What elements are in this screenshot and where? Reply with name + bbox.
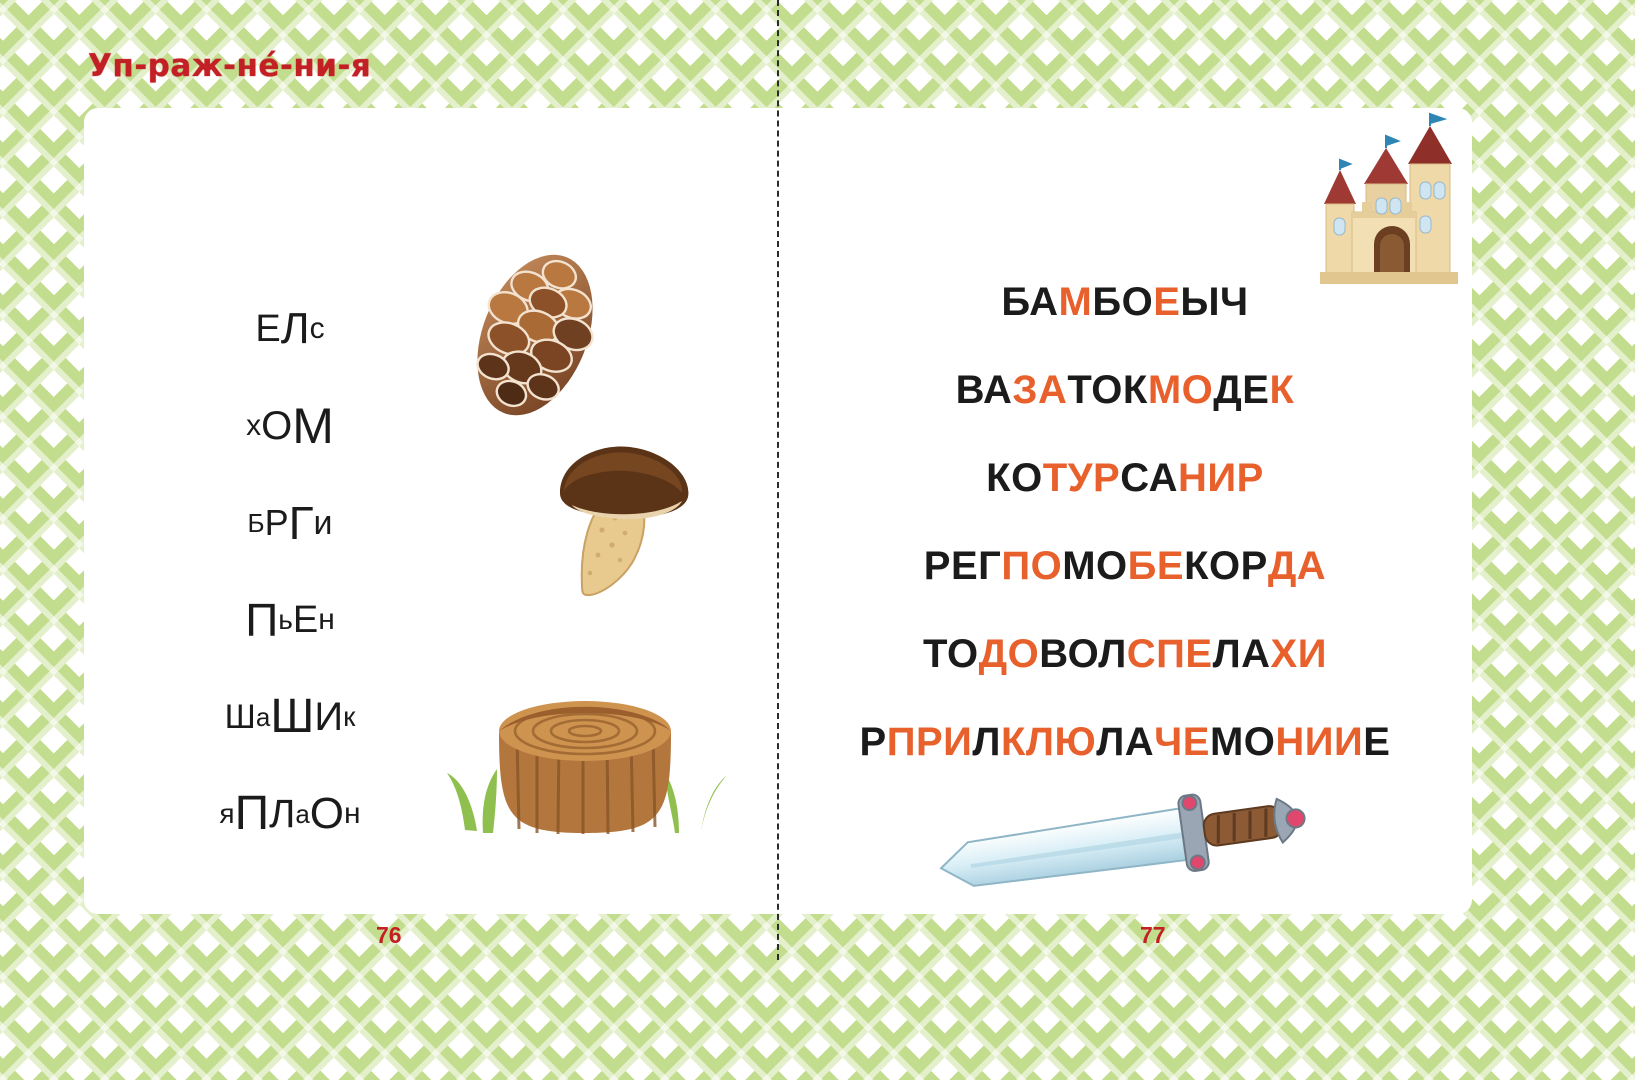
ladder-letter: Е <box>293 601 318 639</box>
tree-stump-illustration <box>425 665 745 850</box>
filler-segment: ДЕ <box>1213 368 1269 413</box>
mushroom-illustration <box>520 435 710 620</box>
hidden-word-segment: ЗА <box>1012 368 1067 413</box>
word-search-row: КОТУРСАНИР <box>800 434 1450 522</box>
ladder-letter: Е <box>255 310 280 348</box>
filler-segment: ЛА <box>1096 720 1154 765</box>
ladder-letter: и <box>314 506 333 540</box>
hidden-word-segment: ПРИ <box>887 720 973 765</box>
castle-illustration <box>1290 112 1485 347</box>
page-number-right: 77 <box>1140 922 1166 949</box>
filler-segment: ВОЛ <box>1039 632 1127 677</box>
word-search-row: РЕГПОМОБЕКОРДА <box>800 522 1450 610</box>
ladder-row: БРГи <box>150 474 430 571</box>
ladder-letter: И <box>314 697 343 737</box>
ladder-letter: а <box>256 704 270 730</box>
filler-segment: СА <box>1120 456 1178 501</box>
ladder-row: хОМ <box>150 377 430 474</box>
page-number-left: 76 <box>376 922 402 949</box>
hidden-word-segment: ТУР <box>1043 456 1121 501</box>
ladder-letter: О <box>261 406 292 446</box>
hidden-word-segment: КЛЮ <box>1001 720 1096 765</box>
filler-segment: Л <box>972 720 1001 765</box>
filler-segment: ТОК <box>1067 368 1147 413</box>
center-fold-line <box>777 0 779 960</box>
ladder-letter: ь <box>278 606 293 634</box>
ladder-row: яПЛаОн <box>150 765 430 862</box>
ladder-letter: Г <box>289 500 314 546</box>
word-search-row: РПРИЛКЛЮЛАЧЕМОНИИЕ <box>800 698 1450 786</box>
ladder-letter: Л <box>281 307 310 351</box>
filler-segment: БО <box>1092 280 1153 325</box>
hidden-word-segment: БЕ <box>1128 544 1184 589</box>
ladder-letter: П <box>245 597 278 643</box>
filler-segment: Е <box>1363 720 1390 765</box>
filler-segment: МО <box>1210 720 1275 765</box>
hidden-word-segment: ДА <box>1268 544 1326 589</box>
hidden-word-segment: НИИ <box>1275 720 1363 765</box>
ladder-letter: н <box>318 605 335 635</box>
pine-cone-illustration <box>440 240 630 430</box>
filler-segment: КОР <box>1184 544 1268 589</box>
sword-illustration <box>925 775 1345 905</box>
hidden-word-segment: ХИ <box>1271 632 1327 677</box>
ladder-letter: Ш <box>270 693 314 741</box>
ladder-letter: М <box>292 401 334 451</box>
hidden-word-segment: МО <box>1148 368 1213 413</box>
ladder-letter: к <box>343 703 355 731</box>
ladder-letter: х <box>246 411 261 441</box>
filler-segment: ТО <box>923 632 979 677</box>
hidden-word-segment: ДО <box>979 632 1040 677</box>
hidden-word-segment: НИР <box>1178 456 1264 501</box>
filler-segment: ЫЧ <box>1180 280 1248 325</box>
filler-segment: КО <box>986 456 1043 501</box>
ladder-letter: Б <box>248 510 265 536</box>
hidden-word-segment: СПЕ <box>1127 632 1213 677</box>
ladder-letter: Л <box>269 794 295 834</box>
filler-segment: РЕГ <box>924 544 1002 589</box>
filler-segment: МО <box>1062 544 1127 589</box>
ladder-letter: П <box>235 790 270 838</box>
ladder-letter: я <box>219 800 234 828</box>
ladder-letter: с <box>310 314 325 344</box>
ladder-letter: н <box>344 799 361 829</box>
filler-segment: ВА <box>956 368 1013 413</box>
filler-segment: Р <box>860 720 887 765</box>
word-search-row: ТОДОВОЛСПЕЛАХИ <box>800 610 1450 698</box>
ladder-row: ШаШИк <box>150 668 430 765</box>
ladder-letter: Р <box>265 505 289 541</box>
page-title: Уп-раж-не́-ни-я <box>88 48 371 84</box>
hidden-word-segment: К <box>1269 368 1294 413</box>
ladder-letter: О <box>310 792 344 836</box>
ladder-letter: Ш <box>225 700 256 734</box>
word-search-row: ВАЗАТОКМОДЕК <box>800 346 1450 434</box>
hidden-word-segment: Е <box>1153 280 1180 325</box>
word-ladder: ЕЛсхОМБРГиПьЕнШаШИкяПЛаОн <box>150 280 430 862</box>
filler-segment: БА <box>1001 280 1058 325</box>
ladder-letter: а <box>295 801 309 827</box>
ladder-row: ПьЕн <box>150 571 430 668</box>
hidden-word-segment: ПО <box>1001 544 1062 589</box>
filler-segment: ЛА <box>1213 632 1271 677</box>
hidden-word-segment: ЧЕ <box>1154 720 1210 765</box>
hidden-word-segment: М <box>1058 280 1092 325</box>
ladder-row: ЕЛс <box>150 280 430 377</box>
